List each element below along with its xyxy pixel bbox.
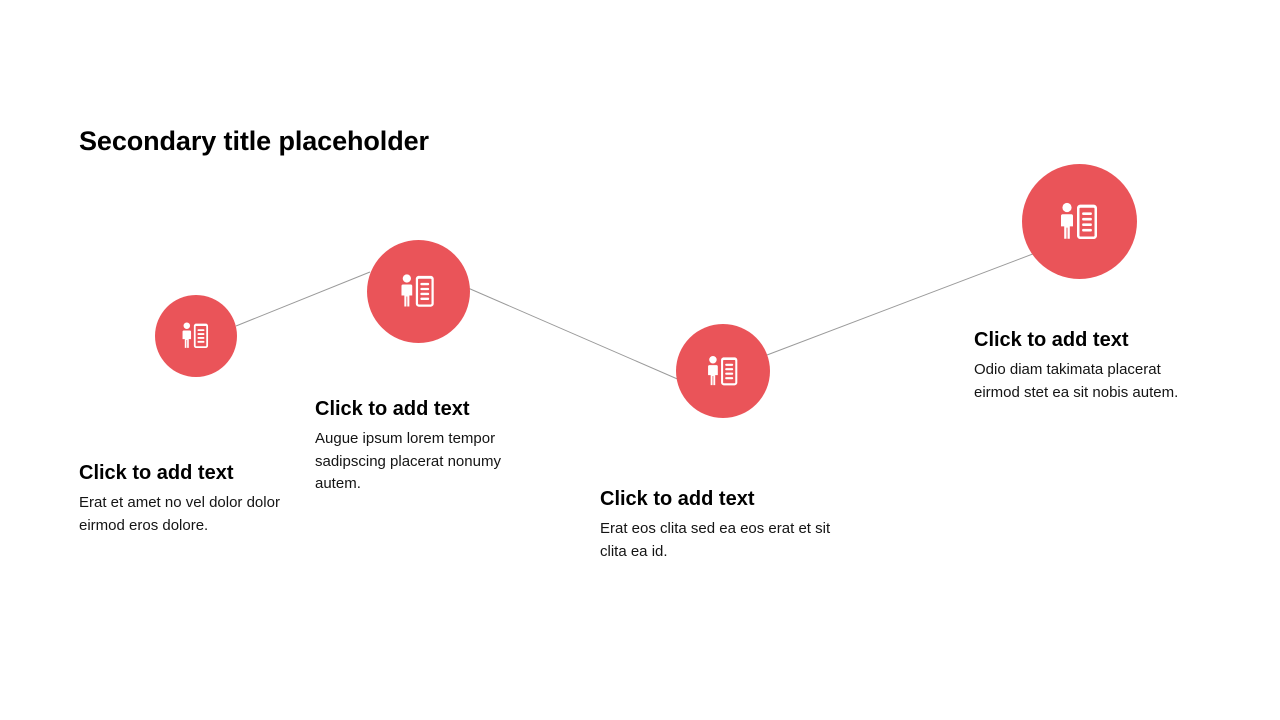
node-body-2[interactable]: Augue ipsum lorem tempor sadipscing plac… xyxy=(315,428,525,496)
node-text-block-2: Click to add text Augue ipsum lorem temp… xyxy=(315,396,525,496)
node-text-block-4: Click to add text Odio diam takimata pla… xyxy=(974,327,1199,404)
person-document-icon xyxy=(397,270,440,313)
node-heading-3[interactable]: Click to add text xyxy=(600,486,835,512)
node-body-1[interactable]: Erat et amet no vel dolor dolor eirmod e… xyxy=(79,492,294,537)
node-body-4[interactable]: Odio diam takimata placerat eirmod stet … xyxy=(974,359,1199,404)
node-circle-3[interactable] xyxy=(676,324,770,418)
node-heading-2[interactable]: Click to add text xyxy=(315,396,525,422)
person-document-icon xyxy=(704,352,743,391)
connector-line-1-2 xyxy=(236,272,370,326)
person-document-icon xyxy=(1056,198,1104,246)
connector-line-2-3 xyxy=(468,288,682,381)
node-heading-1[interactable]: Click to add text xyxy=(79,460,294,486)
node-text-block-3: Click to add text Erat eos clita sed ea … xyxy=(600,486,835,563)
node-circle-2[interactable] xyxy=(367,240,470,343)
node-circle-4[interactable] xyxy=(1022,164,1137,279)
person-document-icon xyxy=(179,319,213,353)
node-body-3[interactable]: Erat eos clita sed ea eos erat et sit cl… xyxy=(600,518,835,563)
node-heading-4[interactable]: Click to add text xyxy=(974,327,1199,353)
node-text-block-1: Click to add text Erat et amet no vel do… xyxy=(79,460,294,537)
slide-canvas: Secondary title placeholder xyxy=(0,0,1280,720)
page-title[interactable]: Secondary title placeholder xyxy=(79,126,429,157)
node-circle-1[interactable] xyxy=(155,295,237,377)
